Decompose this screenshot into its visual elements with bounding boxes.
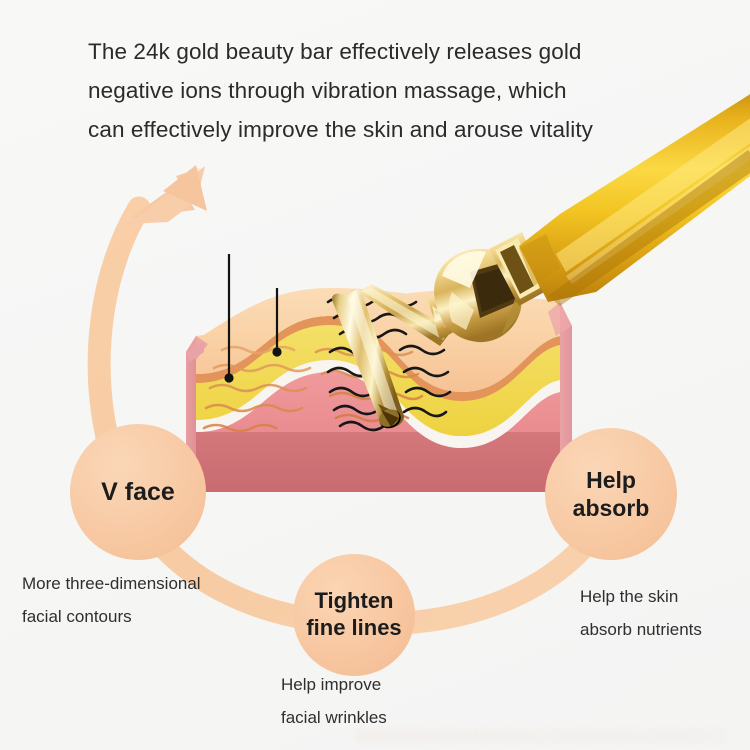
badge-tighten-label-2: fine lines xyxy=(306,615,401,642)
bottom-watermark xyxy=(355,728,725,744)
badge-absorb-label-1: Help xyxy=(573,466,650,494)
device-handle xyxy=(519,88,750,306)
caption-absorb-line-1: Help the skin xyxy=(580,580,702,613)
badge-tighten-fine-lines[interactable]: Tighten fine lines xyxy=(293,554,415,676)
infographic-page: The 24k gold beauty bar effectively rele… xyxy=(0,0,750,750)
caption-tighten-line-1: Help improve xyxy=(281,668,387,701)
caption-v-face-line-2: facial contours xyxy=(22,600,201,633)
badge-v-face[interactable]: V face xyxy=(70,424,206,560)
badge-absorb-label-2: absorb xyxy=(573,494,650,522)
caption-help-absorb: Help the skin absorb nutrients xyxy=(580,580,702,646)
badge-v-face-label: V face xyxy=(101,477,175,508)
badge-help-absorb[interactable]: Help absorb xyxy=(545,428,677,560)
caption-absorb-line-2: absorb nutrients xyxy=(580,613,702,646)
caption-v-face: More three-dimensional facial contours xyxy=(22,567,201,633)
caption-v-face-line-1: More three-dimensional xyxy=(22,567,201,600)
badge-tighten-label-1: Tighten xyxy=(306,588,401,615)
caption-tighten-fine-lines: Help improve facial wrinkles xyxy=(281,668,387,734)
